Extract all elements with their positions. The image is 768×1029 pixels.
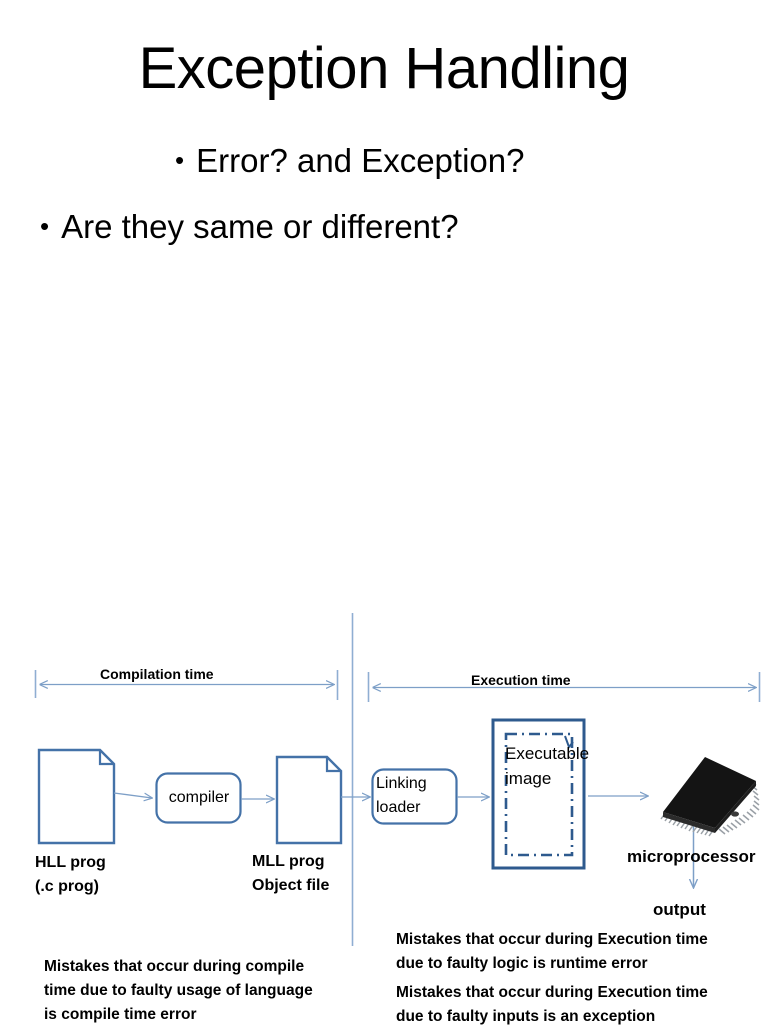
hll-program-caption: HLL prog (.c prog)	[35, 851, 106, 899]
exception-note: Mistakes that occur during Execution tim…	[396, 981, 708, 1029]
executable-image-label: Executable image	[505, 741, 589, 791]
compilation-time-label: Compilation time	[100, 666, 214, 682]
output-caption: output	[653, 898, 706, 922]
microprocessor-caption: microprocessor	[627, 845, 756, 869]
runtime-error-note: Mistakes that occur during Execution tim…	[396, 928, 708, 976]
diagram-canvas	[0, 0, 768, 1024]
linking-loader-label: Linking loader	[376, 772, 427, 820]
mll-object-file-caption: MLL prog Object file	[252, 850, 329, 898]
execution-time-label: Execution time	[471, 672, 571, 688]
compiler-label: compiler	[164, 787, 234, 808]
arrow-hll-to-compiler	[114, 793, 152, 798]
compilation-execution-diagram: Compilation time Execution time compiler…	[0, 0, 768, 1024]
compile-time-error-note: Mistakes that occur during compile time …	[44, 955, 313, 1027]
microprocessor-chip-icon	[654, 752, 760, 844]
